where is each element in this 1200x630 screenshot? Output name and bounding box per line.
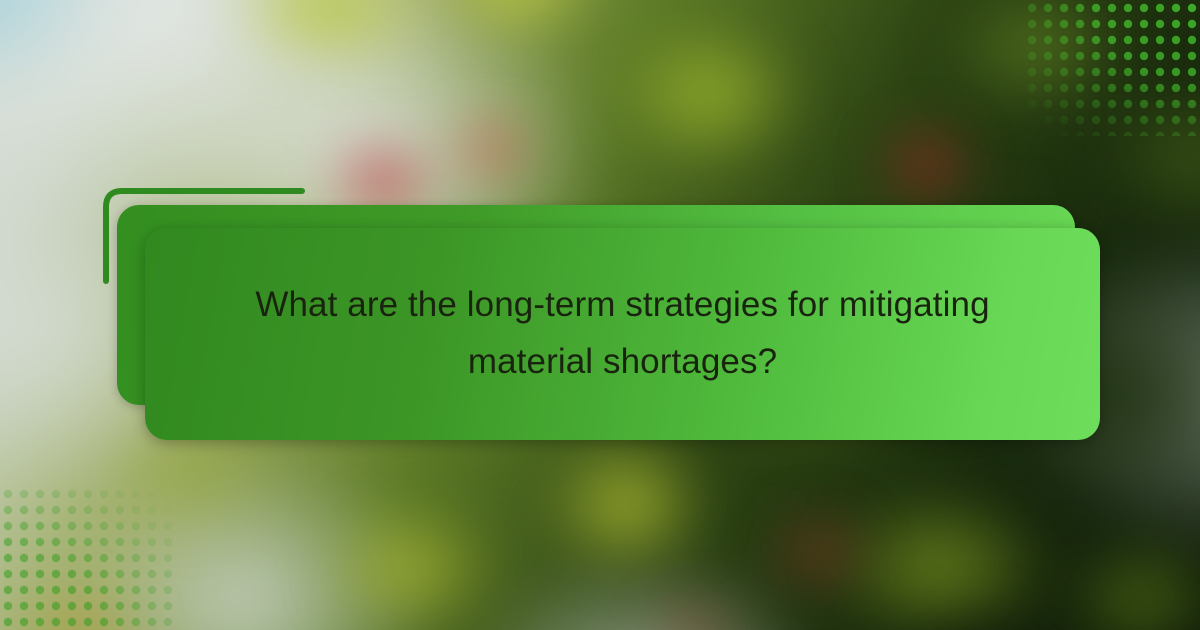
headline-card: What are the long-term strategies for mi…	[145, 228, 1100, 440]
share-card-canvas: What are the long-term strategies for mi…	[0, 0, 1200, 630]
headline-text: What are the long-term strategies for mi…	[145, 277, 1100, 390]
